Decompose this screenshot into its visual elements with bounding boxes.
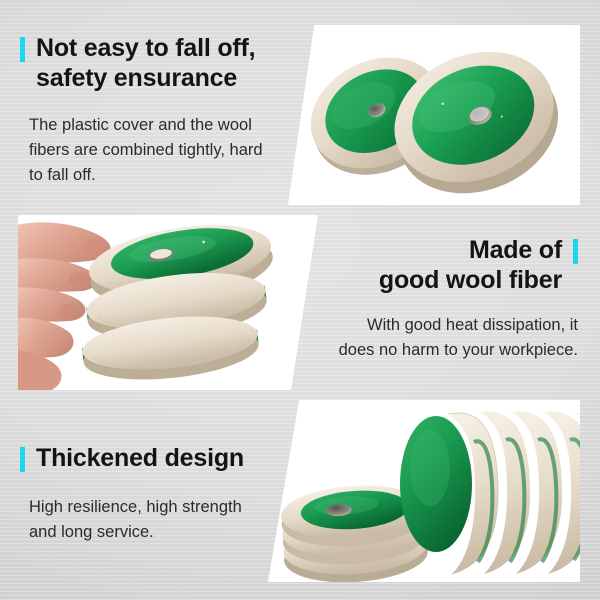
headline-row-1: Not easy to fall off, safety ensurance [20,34,320,93]
section-body: The plastic cover and the wool fibers ar… [29,113,320,188]
section-heading: Thickened design [36,444,244,474]
accent-bar-icon [573,239,578,264]
section-text-thickened-design: Thickened design High resilience, high s… [20,444,320,545]
accent-bar-icon [20,447,25,472]
headline-row-3: Thickened design [20,444,320,474]
section-heading: Made of good wool fiber [379,236,562,295]
photo-two-pads-angled [288,25,580,205]
photo-panel-top-right [288,25,580,205]
section-text-made-of-good-wool-fiber: Made of good wool fiber With good heat d… [258,236,578,363]
section-body: High resilience, high strength and long … [29,495,320,545]
section-text-not-easy-to-fall-off: Not easy to fall off, safety ensurance T… [20,34,320,188]
product-infographic: Not easy to fall off, safety ensurance T… [0,0,600,600]
section-body: With good heat dissipation, it does no h… [258,313,578,363]
section-heading: Not easy to fall off, safety ensurance [36,34,255,93]
headline-row-2: Made of good wool fiber [258,236,578,295]
accent-bar-icon [20,37,25,62]
